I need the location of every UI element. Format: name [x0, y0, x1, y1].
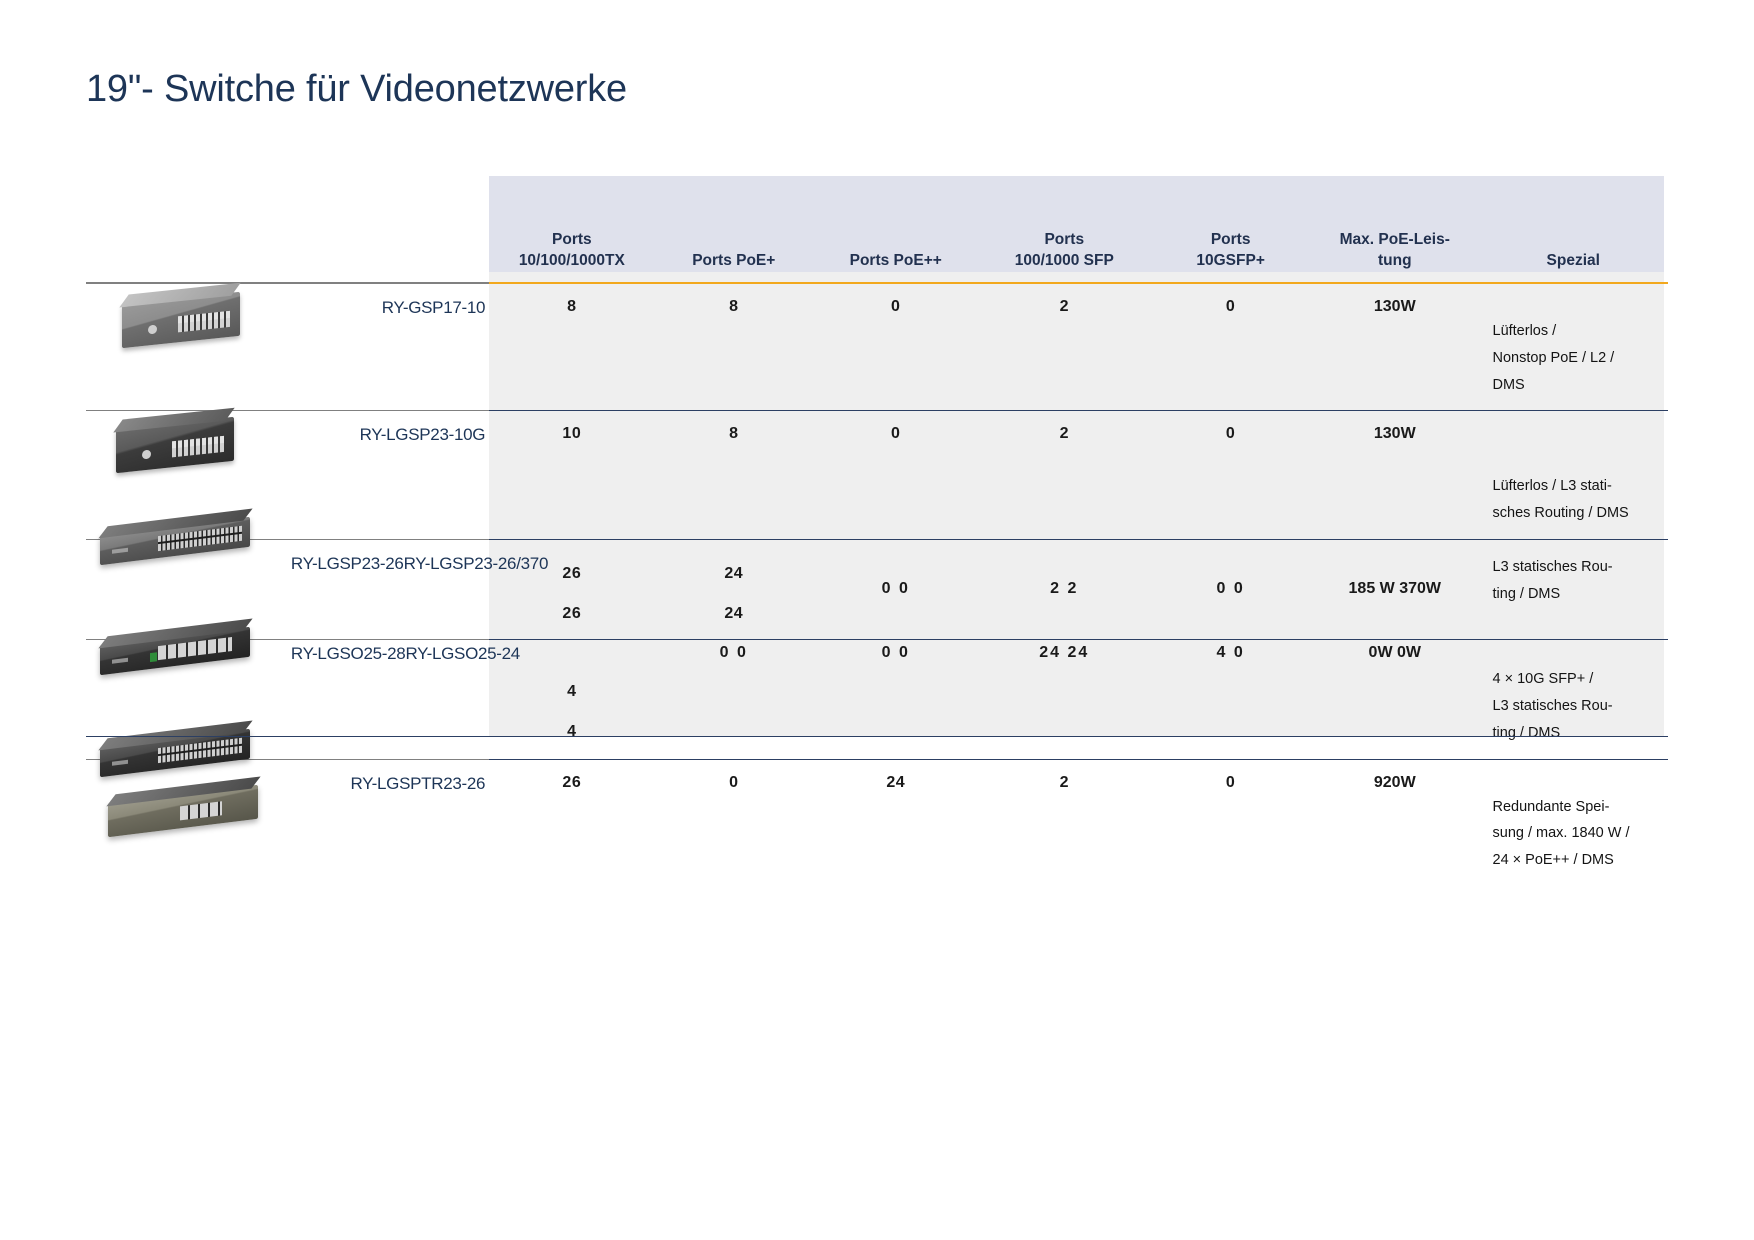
value-primary: 24 — [654, 554, 813, 594]
switch-comparison-table: Ports 10/100/1000TX Ports PoE+ Ports PoE… — [86, 176, 1668, 886]
cell-ports-10g: 4 0 — [1150, 640, 1311, 759]
table-row[interactable]: RY-LGSPTR23-26 26 0 24 2 0 920W Redundan… — [86, 759, 1668, 886]
column-header-ports-tx-line2: 10/100/1000TX — [519, 252, 625, 269]
model-name[interactable]: RY-LGSO25-28 — [291, 644, 406, 664]
column-header-ports-sfp: Ports 100/1000 SFP — [978, 176, 1150, 283]
spezial-line: Lüfterlos / — [1493, 323, 1557, 339]
cell-ports-tx: 26 — [489, 759, 654, 886]
spezial-line: L3 statisches Rou- — [1493, 698, 1613, 714]
value-pair: 0 0 — [882, 644, 910, 661]
column-header-ports-10g-line1: Ports — [1211, 231, 1251, 248]
model-name-secondary[interactable]: RY-LGSP23-26/370 — [404, 554, 549, 574]
spezial-line: Redundante Spei- — [1493, 799, 1610, 815]
cell-ports-poe: 8 — [654, 411, 813, 540]
spezial-line: ting / DMS — [1493, 725, 1561, 741]
cell-ports-sfp: 2 2 — [978, 540, 1150, 640]
model-name[interactable]: RY-LGSP23-26 — [291, 554, 404, 574]
model-name[interactable]: RY-LGSP23-10G — [291, 411, 489, 540]
cell-ports-sfp: 2 — [978, 759, 1150, 886]
column-header-ports-sfp-line2: 100/1000 SFP — [1015, 252, 1114, 269]
column-header-ports-tx-line1: Ports — [552, 231, 592, 248]
column-header-model — [291, 176, 489, 283]
column-header-ports-poe: Ports PoE+ — [654, 176, 813, 283]
value-primary: 4 — [489, 672, 654, 712]
cell-spezial: 4 × 10G SFP+ / L3 statisches Rou- ting /… — [1479, 640, 1669, 759]
value-pair: 4 0 — [1217, 644, 1245, 661]
spezial-line: 4 × 10G SFP+ / — [1493, 671, 1594, 687]
cell-ports-poe: 0 — [654, 759, 813, 886]
model-name-group[interactable]: RY-LGSO25-28RY-LGSO25-24 — [291, 640, 489, 759]
spezial-line: L3 statisches Rou- — [1493, 559, 1613, 575]
cell-ports-poepp: 0 — [813, 283, 978, 411]
cell-ports-sfp: 2 — [978, 283, 1150, 411]
spezial-line: sung / max. 1840 W / — [1493, 825, 1630, 841]
column-header-max-poe-line1: Max. PoE-Leis- — [1340, 231, 1450, 248]
column-header-ports-sfp-line1: Ports — [1044, 231, 1084, 248]
cell-ports-poepp: 0 — [813, 411, 978, 540]
value-pair: 0 0 — [882, 580, 910, 597]
table-row[interactable]: RY-LGSP23-10G 10 8 0 2 0 130W Lüfterlos … — [86, 411, 1668, 540]
table-bottom-rule — [86, 736, 1668, 737]
cell-ports-poe: 0 0 — [654, 640, 813, 759]
cell-ports-poe: 24 24 — [654, 540, 813, 640]
model-name[interactable]: RY-LGSPTR23-26 — [291, 759, 489, 886]
table-header-row: Ports 10/100/1000TX Ports PoE+ Ports PoE… — [86, 176, 1668, 283]
column-header-image — [86, 176, 291, 283]
spezial-line: Lüfterlos / L3 stati- — [1493, 478, 1612, 494]
table-row[interactable]: RY-LGSO25-28RY-LGSO25-24 4 4 0 0 0 0 24 … — [86, 640, 1668, 759]
cell-ports-sfp: 2 — [978, 411, 1150, 540]
spezial-line: Nonstop PoE / L2 / — [1493, 350, 1615, 366]
cell-ports-sfp: 24 24 — [978, 640, 1150, 759]
column-header-ports-10g: Ports 10GSFP+ — [1150, 176, 1311, 283]
cell-spezial: L3 statisches Rou- ting / DMS — [1479, 540, 1669, 640]
cell-spezial: Lüfterlos / L3 stati- sches Routing / DM… — [1479, 411, 1669, 540]
spezial-line: ting / DMS — [1493, 586, 1561, 602]
table-row[interactable]: RY-LGSP23-26RY-LGSP23-26/370 26 26 24 24… — [86, 540, 1668, 640]
device-image-cell — [86, 283, 291, 411]
cell-ports-poepp: 0 0 — [813, 540, 978, 640]
value-pair: 2 2 — [1050, 580, 1078, 597]
cell-ports-poe: 8 — [654, 283, 813, 411]
column-header-max-poe-line2: tung — [1378, 252, 1412, 269]
spec-table: Ports 10/100/1000TX Ports PoE+ Ports PoE… — [86, 176, 1668, 886]
value-pair: 0 0 — [720, 644, 748, 661]
device-image-cell — [86, 540, 291, 640]
cell-max-poe: 130W — [1311, 283, 1478, 411]
value-secondary: 24 — [654, 594, 813, 634]
cell-spezial: Lüfterlos / Nonstop PoE / L2 / DMS — [1479, 283, 1669, 411]
model-name[interactable]: RY-GSP17-10 — [291, 283, 489, 411]
value-pair: 0 0 — [1217, 580, 1245, 597]
value-pair: 24 24 — [1039, 644, 1089, 661]
cell-ports-10g: 0 — [1150, 283, 1311, 411]
device-image-cell — [86, 411, 291, 540]
cell-ports-10g: 0 — [1150, 759, 1311, 886]
device-image-cell — [86, 640, 291, 759]
device-image-cell — [86, 759, 291, 886]
table-row[interactable]: RY-GSP17-10 8 8 0 2 0 130W Lüfterlos / N… — [86, 283, 1668, 411]
value-secondary: 26 — [489, 594, 654, 634]
cell-max-poe: 0W 0W — [1311, 640, 1478, 759]
page-title: 19"- Switche für Videonetzwerke — [86, 68, 627, 111]
model-name-secondary[interactable]: RY-LGSO25-24 — [405, 644, 520, 664]
cell-max-poe: 185 W 370W — [1311, 540, 1478, 640]
cell-ports-tx: 10 — [489, 411, 654, 540]
cell-spezial: Redundante Spei- sung / max. 1840 W / 24… — [1479, 759, 1669, 886]
value-secondary: 4 — [489, 712, 654, 752]
spezial-line: sches Routing / DMS — [1493, 505, 1629, 521]
cell-ports-poepp: 24 — [813, 759, 978, 886]
column-header-ports-tx: Ports 10/100/1000TX — [489, 176, 654, 283]
model-name-group[interactable]: RY-LGSP23-26RY-LGSP23-26/370 — [291, 540, 489, 640]
spezial-line: DMS — [1493, 377, 1525, 393]
column-header-ports-10g-line2: 10GSFP+ — [1196, 252, 1265, 269]
column-header-ports-poepp: Ports PoE++ — [813, 176, 978, 283]
cell-ports-tx: 8 — [489, 283, 654, 411]
cell-max-poe: 130W — [1311, 411, 1478, 540]
column-header-max-poe: Max. PoE-Leis- tung — [1311, 176, 1478, 283]
cell-ports-10g: 0 0 — [1150, 540, 1311, 640]
cell-ports-poepp: 0 0 — [813, 640, 978, 759]
spezial-line: 24 × PoE++ / DMS — [1493, 852, 1614, 868]
cell-ports-10g: 0 — [1150, 411, 1311, 540]
column-header-spezial: Spezial — [1479, 176, 1669, 283]
cell-max-poe: 920W — [1311, 759, 1478, 886]
